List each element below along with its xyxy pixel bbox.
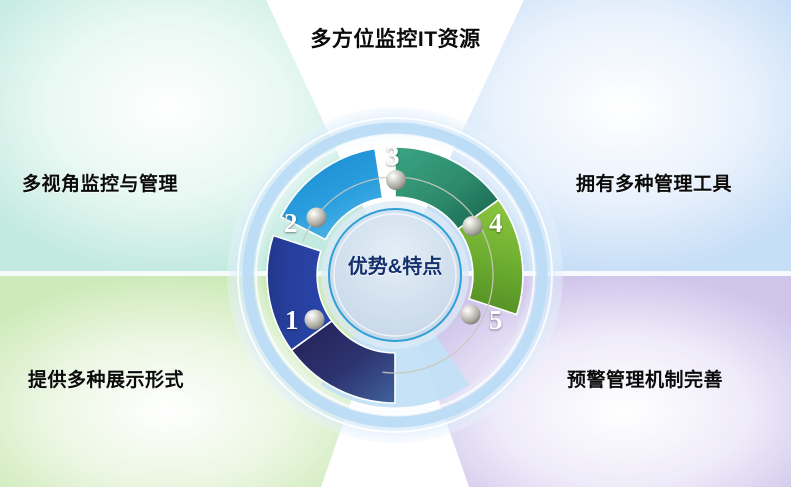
label-right-upper: 拥有多种管理工具 [576,169,732,196]
marker-sphere-3[interactable] [386,170,406,190]
label-right-lower: 预警管理机制完善 [567,365,723,392]
marker-sphere-4[interactable] [463,216,483,236]
center-circle [329,209,461,341]
diagram-canvas: 1 2 3 4 5 优势&特点 多方位监控IT资源 多视角监控与管理 提供多种展… [0,0,791,487]
marker-sphere-1[interactable] [305,310,325,330]
label-left-upper: 多视角监控与管理 [22,169,178,196]
label-top: 多方位监控IT资源 [0,23,791,53]
marker-sphere-5[interactable] [461,305,481,325]
radial-wheel [0,0,791,487]
marker-sphere-2[interactable] [307,208,327,228]
label-left-lower: 提供多种展示形式 [28,365,184,392]
